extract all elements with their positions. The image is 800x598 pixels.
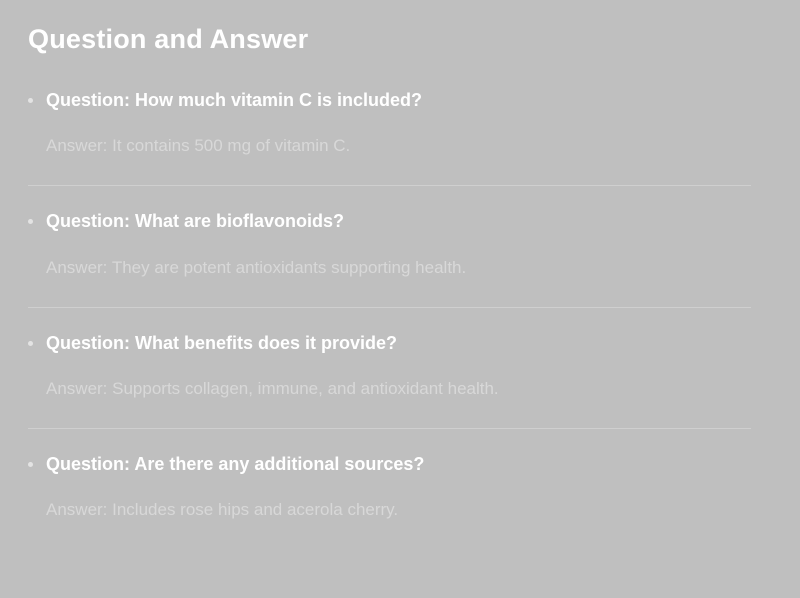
page-title: Question and Answer: [28, 24, 776, 55]
question-and-answer-page: Question and Answer Question: How much v…: [0, 0, 800, 598]
qa-item: Question: How much vitamin C is included…: [28, 89, 776, 158]
bullet-dot-icon: [28, 341, 33, 346]
qa-divider: [28, 428, 751, 429]
qa-divider: [28, 185, 751, 186]
bullet-dot-icon: [28, 219, 33, 224]
qa-question-text: Question: What are bioflavonoids?: [46, 211, 344, 231]
qa-item: Question: Are there any additional sourc…: [28, 453, 776, 522]
qa-answer: Answer: Supports collagen, immune, and a…: [28, 378, 776, 401]
qa-item: Question: What benefits does it provide?…: [28, 332, 776, 401]
bullet-dot-icon: [28, 462, 33, 467]
qa-answer: Answer: It contains 500 mg of vitamin C.: [28, 135, 776, 158]
bullet-dot-icon: [28, 98, 33, 103]
qa-question: Question: How much vitamin C is included…: [28, 89, 776, 112]
qa-question-text: Question: What benefits does it provide?: [46, 333, 397, 353]
qa-question-text: Question: How much vitamin C is included…: [46, 90, 422, 110]
qa-answer: Answer: They are potent antioxidants sup…: [28, 257, 776, 280]
qa-answer: Answer: Includes rose hips and acerola c…: [28, 499, 776, 522]
qa-list: Question: How much vitamin C is included…: [28, 89, 776, 522]
qa-question: Question: Are there any additional sourc…: [28, 453, 776, 476]
qa-question: Question: What are bioflavonoids?: [28, 210, 776, 233]
qa-question-text: Question: Are there any additional sourc…: [46, 454, 424, 474]
qa-divider: [28, 307, 751, 308]
qa-item: Question: What are bioflavonoids? Answer…: [28, 210, 776, 279]
qa-question: Question: What benefits does it provide?: [28, 332, 776, 355]
